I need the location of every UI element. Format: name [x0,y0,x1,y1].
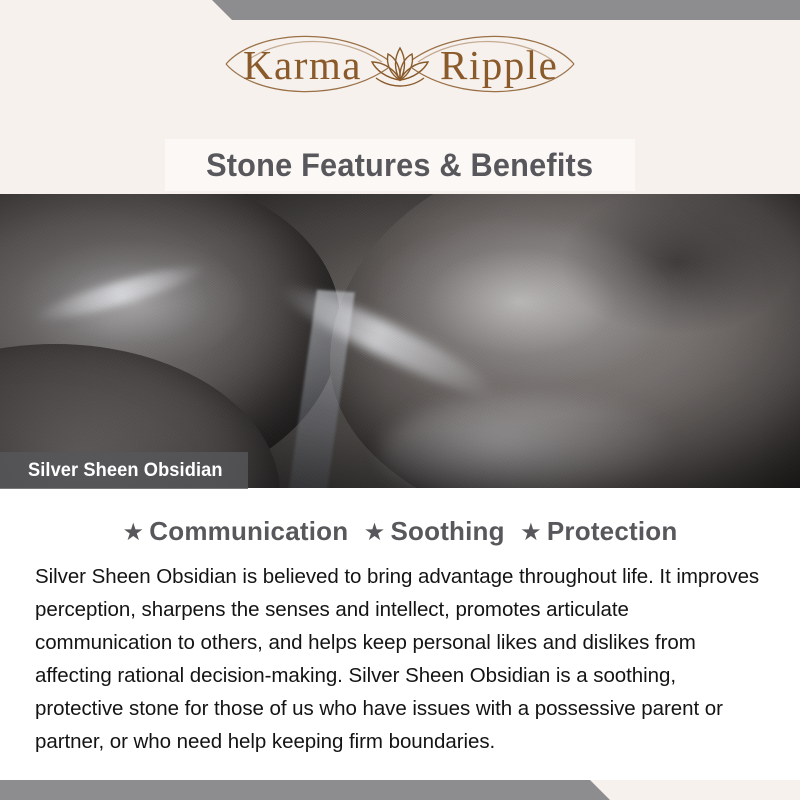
stone-name-badge: Silver Sheen Obsidian [0,452,248,489]
brand-logo-svg: Karma Ripple [190,24,610,110]
star-icon: ★ [364,520,386,544]
benefit-item-communication: ★Communication [123,516,349,547]
lotus-icon [372,48,428,86]
stone-description-text: Silver Sheen Obsidian is believed to bri… [0,547,800,758]
benefit-item-protection: ★Protection [520,516,677,547]
description-panel: ★Communication ★Soothing ★Protection Sil… [0,488,800,780]
infographic-canvas: Karma Ripple Stone Features & Benefits [0,0,800,800]
stone-photo [0,194,800,488]
brand-name-right: Ripple [440,42,558,88]
star-icon: ★ [520,520,542,544]
page-title-plate: Stone Features & Benefits [165,139,635,191]
benefit-item-soothing: ★Soothing [364,516,505,547]
benefit-label: Soothing [390,516,504,546]
stone-name-label: Silver Sheen Obsidian [5,460,242,482]
benefit-label: Communication [149,516,348,546]
star-icon: ★ [123,520,145,544]
benefits-row: ★Communication ★Soothing ★Protection [0,488,800,547]
brand-logo: Karma Ripple [0,24,800,110]
page-title: Stone Features & Benefits [206,147,593,184]
brand-name-left: Karma [243,42,362,88]
benefit-label: Protection [547,516,678,546]
page-body: Karma Ripple Stone Features & Benefits [0,0,800,800]
